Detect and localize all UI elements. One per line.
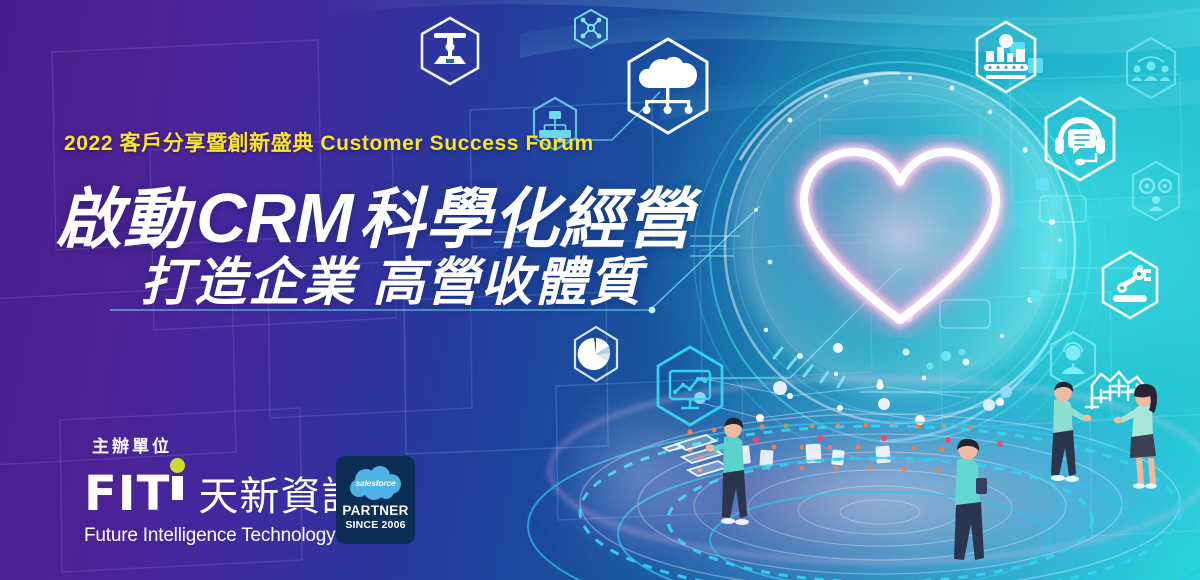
salesforce-cloud-icon: salesforce xyxy=(347,465,405,501)
person-man-right xyxy=(1051,382,1091,482)
monitor-chart-icon xyxy=(652,345,728,429)
network-node-icon xyxy=(572,8,610,50)
org-people-icon xyxy=(1122,36,1180,100)
fiti-logo[interactable]: FIT 天新資訊 Future Intelligence Technology … xyxy=(84,470,370,547)
factory-line-icon xyxy=(972,20,1040,94)
headline-line-2: 打造企業 高營收體質 xyxy=(140,240,642,315)
gears-people-icon xyxy=(1128,160,1184,222)
robotic-arm-icon xyxy=(1098,250,1162,320)
salesforce-partner-label: PARTNER xyxy=(342,503,408,518)
support-agent-icon xyxy=(1046,330,1100,390)
person-viewer-center xyxy=(954,439,987,560)
fiti-i-dot xyxy=(170,458,185,473)
salesforce-partner-badge[interactable]: salesforce PARTNER SINCE 2006 xyxy=(336,456,415,544)
fiti-i-stem xyxy=(172,476,183,500)
fiti-tagline: Future Intelligence Technology Inc. xyxy=(84,525,370,547)
pie-chart-icon xyxy=(570,325,622,383)
person-woman-right xyxy=(1114,384,1157,489)
person-presenter-left xyxy=(664,418,749,525)
robot-arm-press-icon xyxy=(418,16,482,86)
salesforce-wordmark: salesforce xyxy=(347,478,405,488)
headset-chat-icon xyxy=(1040,95,1120,183)
host-label: 主辦單位 xyxy=(92,432,172,457)
fiti-letters: FIT xyxy=(84,470,170,518)
event-banner: 2022 客戶分享暨創新盛典 Customer Success Forum 啟動… xyxy=(0,0,1200,580)
fiti-wordmark: FIT 天新資訊 xyxy=(84,470,370,518)
event-subtitle: 2022 客戶分享暨創新盛典 Customer Success Forum xyxy=(64,127,594,157)
cloud-network-icon xyxy=(622,36,714,136)
salesforce-since-label: SINCE 2006 xyxy=(345,519,405,531)
